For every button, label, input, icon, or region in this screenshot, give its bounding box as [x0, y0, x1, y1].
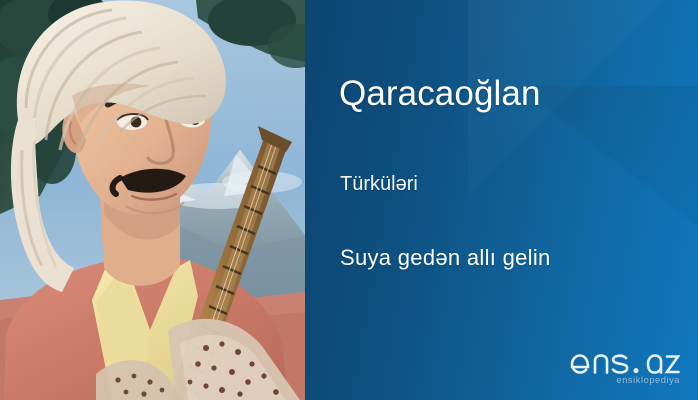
collection-subtitle: Türküləri [340, 173, 418, 196]
portrait-illustration [0, 0, 305, 400]
media-card: Qaracaoğlan Türküləri Suya gedən allı ge… [0, 0, 698, 400]
page-title: Qaracaoğlan [339, 74, 541, 114]
song-title: Suya gedən allı gelin [340, 245, 551, 271]
portrait-artwork [0, 0, 305, 400]
ens-az-logo-mark: ensiklopediya [568, 340, 680, 386]
logo-tagline: ensiklopediya [617, 375, 680, 385]
info-panel: Qaracaoğlan Türküləri Suya gedən allı ge… [305, 0, 698, 400]
ens-az-logo[interactable]: ensiklopediya [568, 340, 680, 386]
logo-dot [634, 368, 639, 373]
